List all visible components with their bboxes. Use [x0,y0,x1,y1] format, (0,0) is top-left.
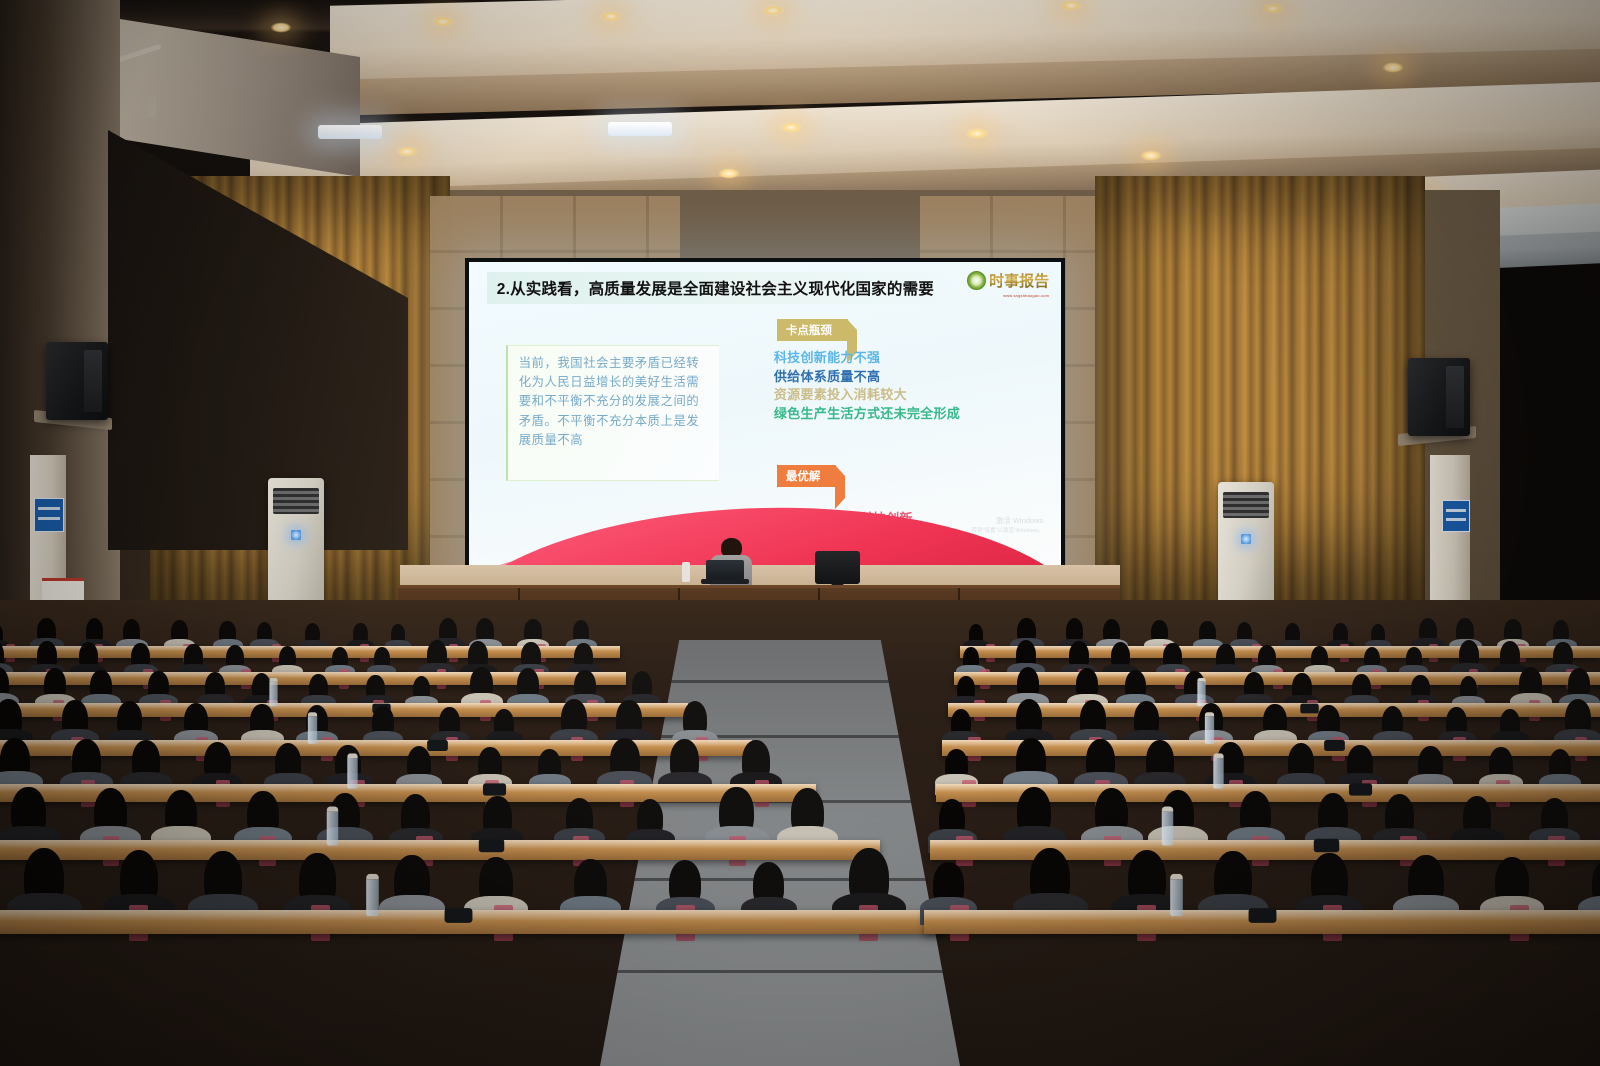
recessed-downlight [1382,62,1404,73]
slide-quote-text: 当前，我国社会主要矛盾已经转化为人民日益增长的美好生活需要和不平衡不充分的发展之… [519,354,711,451]
wall-notice-sign-right [1442,500,1470,532]
cup [682,562,690,582]
recessed-downlight [1060,0,1082,11]
water-bottle [348,753,359,788]
bullet-item: 科技创新能力不强 [774,349,1046,367]
slide-quote-block: 当前，我国社会主要矛盾已经转化为人民日益增长的美好生活需要和不平衡不充分的发展之… [506,345,719,481]
smartphone [445,908,473,923]
water-bottle [1205,712,1215,744]
air-conditioner-right [1218,482,1274,612]
water-bottle [1197,678,1205,706]
smartphone [483,783,506,795]
windows-activation-watermark: 激活 Windows 转到"设置"以激活 Windows。 [972,515,1044,534]
recessed-downlight [600,11,622,22]
water-bottle [327,807,339,846]
smartphone [1300,704,1318,714]
desk-surface-highlight [0,784,816,792]
logo-emblem-icon [967,271,986,290]
ac-vent-grille [273,488,319,514]
slide-title: 2.从实践看，高质量发展是全面建设社会主义现代化国家的需要 [487,277,934,299]
slide-bullet-list: 科技创新能力不强 供给体系质量不高 资源要素投入消耗较大 绿色生产生活方式还未完… [774,349,1046,423]
bullet-item: 绿色生产生活方式还未完全形成 [774,405,1046,423]
bullet-item: 资源要素投入消耗较大 [774,386,1046,404]
fluorescent-strip-light [608,122,672,136]
watermark-line-2: 转到"设置"以激活 Windows。 [972,526,1044,534]
lecture-hall-photo: 2.从实践看，高质量发展是全面建设社会主义现代化国家的需要 时事报告 www.s… [0,0,1600,1066]
air-conditioner-left [268,478,324,608]
recessed-downlight [270,22,292,33]
wall-notice-sign-left [34,498,64,532]
smartphone [1248,908,1276,923]
tag-bottleneck-wrap: 卡点瓶颈 [777,319,848,341]
monitor [815,551,860,584]
smartphone [1314,839,1340,853]
projection-screen: 2.从实践看，高质量发展是全面建设社会主义现代化国家的需要 时事报告 www.s… [465,258,1065,590]
publisher-logo: 时事报告 www.sngshbaogao.com [967,270,1049,291]
smartphone [428,740,449,751]
smartphone [1349,783,1372,795]
bullet-item: 供给体系质量不高 [774,368,1046,386]
desk-surface-highlight [930,840,1600,849]
water-bottle [269,678,277,706]
water-bottle [366,874,379,917]
smartphone [479,839,505,853]
water-bottle [1162,807,1174,846]
track-light-head [146,95,156,117]
recessed-downlight [396,146,418,157]
recessed-downlight [966,128,988,139]
tag-bottleneck: 卡点瓶颈 [777,319,848,341]
logo-subtext: www.sngshbaogao.com [1003,293,1049,298]
water-bottle [1170,874,1183,917]
logo-text: 时事报告 [989,270,1049,291]
recessed-downlight [718,168,740,179]
recessed-downlight [762,5,784,16]
recessed-downlight [780,122,802,133]
smartphone [1325,740,1346,751]
desk-surface-highlight [0,840,880,849]
ac-vent-grille [1223,492,1269,518]
recessed-downlight [1140,150,1162,161]
ac-indicator-light [291,530,301,540]
wall-speaker-right [1408,358,1470,436]
desk-surface-highlight [954,672,1600,678]
laptop [706,560,744,580]
wall-speaker-left [46,342,108,420]
tag-solution: 最优解 [777,465,837,487]
ac-indicator-light [1241,534,1251,544]
watermark-line-1: 激活 Windows [972,515,1044,526]
tag-solution-wrap: 最优解 [777,465,837,487]
slide-content: 2.从实践看，高质量发展是全面建设社会主义现代化国家的需要 时事报告 www.s… [469,262,1061,586]
slide-title-bar: 2.从实践看，高质量发展是全面建设社会主义现代化国家的需要 [487,272,967,304]
water-bottle [1213,753,1224,788]
recessed-downlight [432,16,454,27]
aisle-step-edge [600,970,960,973]
fluorescent-strip-light [318,125,382,139]
recessed-downlight [1262,3,1284,14]
student-desk-row [954,672,1600,685]
student-desk-row [930,840,1600,860]
desk-surface-highlight [0,740,752,747]
water-bottle [308,712,318,744]
